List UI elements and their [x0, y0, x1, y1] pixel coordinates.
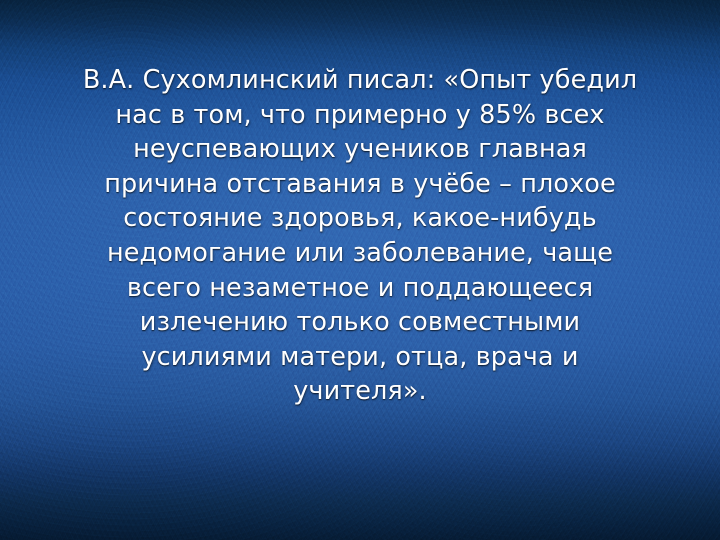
presentation-slide: В.А. Сухомлинский писал: «Опыт убедил на…: [0, 0, 720, 540]
quote-text: В.А. Сухомлинский писал: «Опыт убедил на…: [0, 63, 720, 409]
